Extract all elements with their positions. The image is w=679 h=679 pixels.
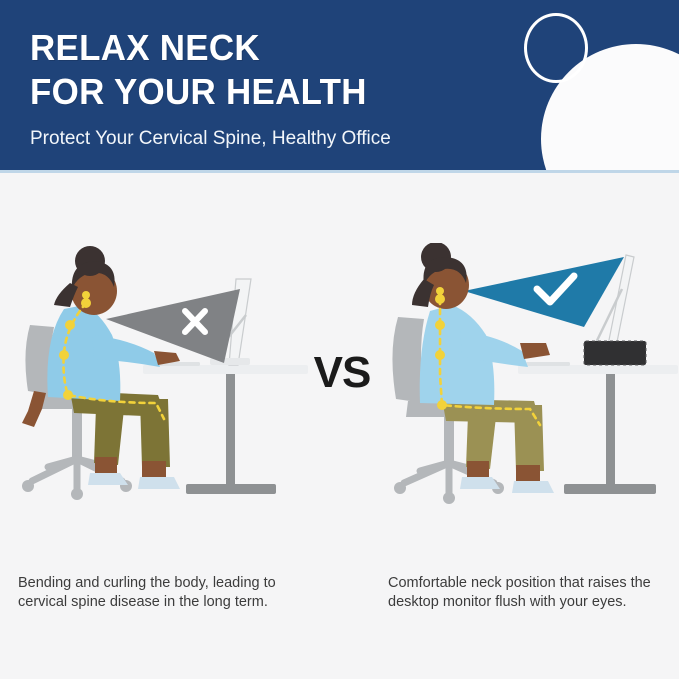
caption-right-line-2: desktop monitor flush with your eyes.	[388, 593, 679, 612]
person-calf-back	[466, 415, 496, 469]
person-calf-front	[140, 399, 170, 467]
keyboard	[526, 362, 570, 366]
page-title-line-2: FOR YOUR HEALTH	[30, 70, 380, 114]
caption-left-line-1: Bending and curling the body, leading to	[18, 574, 318, 593]
person-calf-back	[94, 407, 124, 465]
desk-leg-column	[606, 374, 615, 484]
scene-correct-posture	[378, 243, 678, 533]
page-title-line-1: RELAX NECK	[30, 26, 380, 70]
person-earring	[82, 291, 90, 299]
illustration-correct-posture	[378, 243, 678, 533]
chair-backrest	[392, 317, 424, 403]
desk-leg-column	[226, 374, 235, 484]
chair-column	[72, 409, 82, 459]
desk-foot	[564, 484, 656, 494]
outline-circle-decoration-icon	[524, 13, 588, 83]
caption-left-line-2: cervical spine disease in the long term.	[18, 593, 318, 612]
title-block: RELAX NECK FOR YOUR HEALTH Protect Your …	[30, 26, 391, 152]
page-subtitle: Protect Your Cervical Spine, Healthy Off…	[30, 126, 391, 152]
vs-label: VS	[296, 348, 388, 398]
person-shoe-front	[512, 481, 554, 493]
person-hand	[520, 343, 550, 359]
comparison-area: VS	[0, 173, 679, 679]
caption-right-line-1: Comfortable neck position that raises th…	[388, 574, 679, 593]
illustration-incorrect-posture	[8, 243, 308, 533]
desk-surface	[518, 365, 678, 374]
desk-foot	[186, 484, 276, 494]
person-shoe-front	[138, 477, 180, 489]
scene-incorrect-posture	[8, 243, 308, 533]
person-shoe-back	[460, 477, 500, 489]
caption-correct-posture: Comfortable neck position that raises th…	[388, 574, 679, 612]
infographic-poster: RELAX NECK FOR YOUR HEALTH Protect Your …	[0, 0, 679, 679]
person-shoe-back	[88, 473, 128, 485]
caption-incorrect-posture: Bending and curling the body, leading to…	[18, 574, 318, 612]
chair-column	[444, 417, 454, 463]
person-earring	[436, 287, 444, 295]
person-calf-front	[514, 405, 544, 471]
monitor-riser	[584, 341, 646, 365]
desk-surface	[143, 365, 308, 374]
